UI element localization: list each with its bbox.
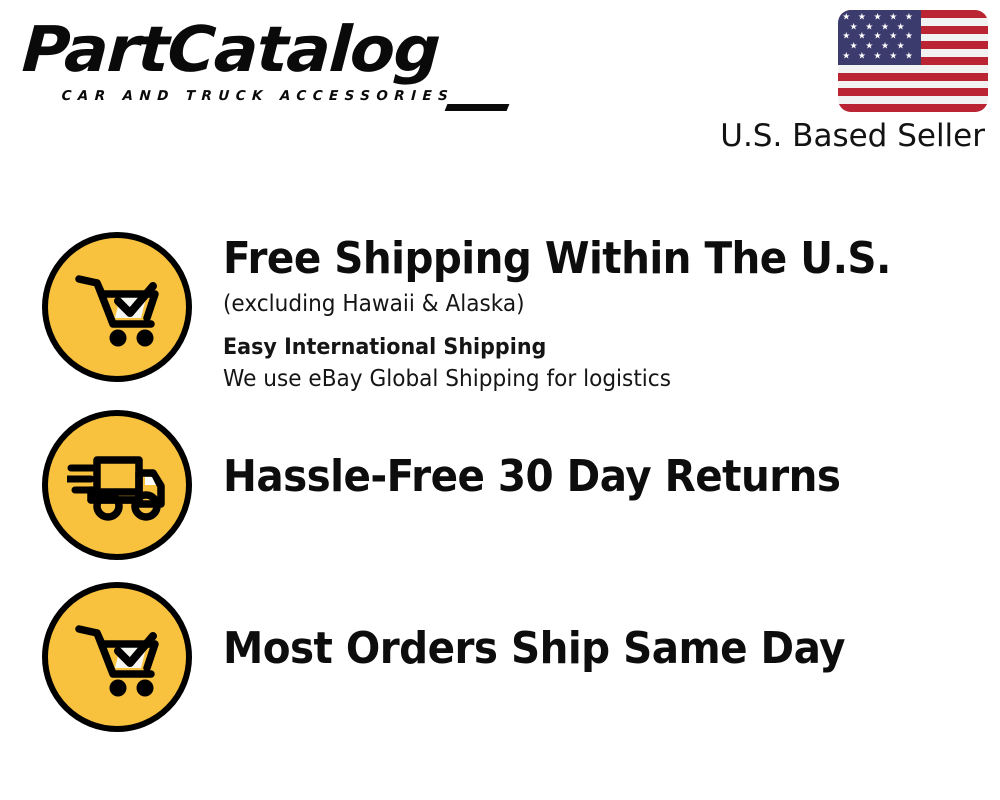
flag-star: ★ [874,13,882,22]
flag-star: ★ [850,23,858,32]
flag-stripe [838,104,988,112]
flag-star: ★ [881,23,889,32]
flag-star: ★ [905,33,913,42]
feature-text-block: Hassle-Free 30 Day Returns [192,410,1000,500]
shopping-cart-check-icon [69,616,165,698]
page-header: PartCatalog CAR AND TRUCK ACCESSORIES ★ … [0,0,1000,175]
flag-star: ★ [874,33,882,42]
brand-logo[interactable]: PartCatalog CAR AND TRUCK ACCESSORIES [24,18,494,113]
us-flag-icon: ★ ★ ★ ★ ★ ★ ★ ★ ★ ★ ★ ★ ★ ★ ★ ★ ★ ★ ★ ★ [838,10,988,112]
flag-star: ★ [865,23,873,32]
feature-title: Most Orders Ship Same Day [223,626,938,672]
feature-badge-free-shipping [42,232,192,382]
brand-underline-swoosh [445,104,510,111]
shopping-cart-check-icon [69,266,165,348]
delivery-truck-icon [67,448,167,522]
feature-text-block: Free Shipping Within The U.S. (excluding… [192,232,1000,395]
feature-row: Hassle-Free 30 Day Returns [0,410,1000,560]
flag-stripe [838,96,988,104]
flag-star: ★ [842,53,850,62]
flag-stripe [838,81,988,89]
feature-subheading: Easy International Shipping [223,334,953,363]
flag-star: ★ [842,33,850,42]
flag-star: ★ [905,13,913,22]
flag-star: ★ [889,13,897,22]
feature-subnote: (excluding Hawaii & Alaska) [223,290,953,320]
feature-title: Hassle-Free 30 Day Returns [223,454,938,500]
flag-stripe [838,73,988,81]
flag-star: ★ [858,53,866,62]
flag-star: ★ [897,23,905,32]
feature-subdetail: We use eBay Global Shipping for logistic… [223,365,953,395]
brand-wordmark: PartCatalog [21,18,513,81]
flag-star: ★ [865,43,873,52]
flag-stripe [838,88,988,96]
flag-canton: ★ ★ ★ ★ ★ ★ ★ ★ ★ ★ ★ ★ ★ ★ ★ ★ ★ ★ ★ ★ [838,10,921,65]
feature-row: Free Shipping Within The U.S. (excluding… [0,232,1000,395]
flag-stripe [838,65,988,73]
flag-star: ★ [850,43,858,52]
flag-star: ★ [905,53,913,62]
flag-star: ★ [889,53,897,62]
feature-row: Most Orders Ship Same Day [0,582,1000,732]
flag-star: ★ [858,13,866,22]
flag-star: ★ [889,33,897,42]
seller-label: U.S. Based Seller [718,119,988,153]
seller-badge: ★ ★ ★ ★ ★ ★ ★ ★ ★ ★ ★ ★ ★ ★ ★ ★ ★ ★ ★ ★ [718,10,988,153]
feature-text-block: Most Orders Ship Same Day [192,582,1000,672]
flag-star: ★ [842,13,850,22]
brand-tagline: CAR AND TRUCK ACCESSORIES [61,88,454,104]
flag-star: ★ [881,43,889,52]
flag-star: ★ [897,43,905,52]
flag-star: ★ [874,53,882,62]
feature-title: Free Shipping Within The U.S. [223,236,938,282]
flag-star: ★ [858,33,866,42]
feature-badge-same-day [42,582,192,732]
feature-badge-returns [42,410,192,560]
